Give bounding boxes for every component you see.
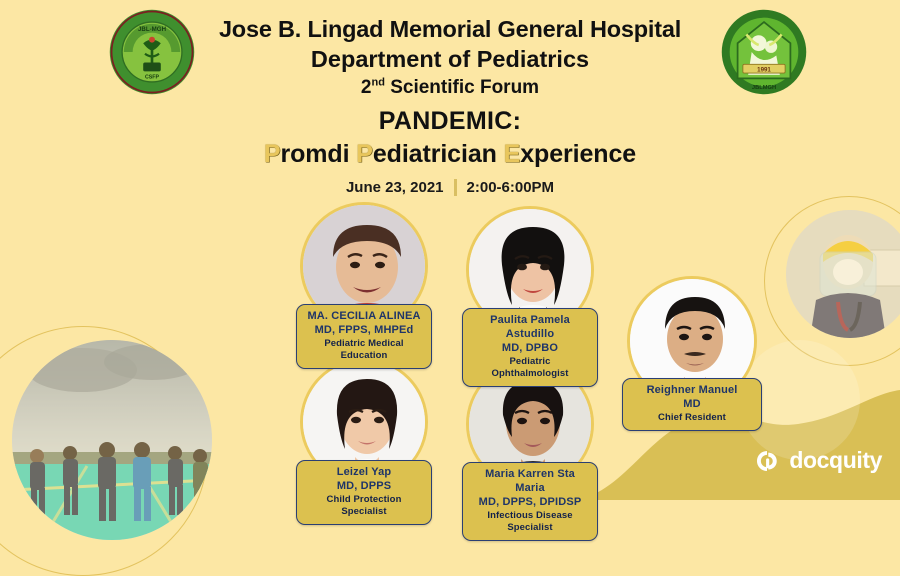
photo-overlay bbox=[12, 340, 212, 540]
speaker-namecard: MA. CECILIA ALINEA MD, FPPS, MHPEd Pedia… bbox=[296, 304, 432, 369]
speaker-namecard: Paulita Pamela Astudillo MD, DPBO Pediat… bbox=[462, 308, 598, 387]
speaker-card[interactable]: Leizel Yap MD, DPPS Child Protection Spe… bbox=[296, 358, 432, 525]
speaker-degrees: MD, DPBO bbox=[471, 342, 589, 356]
group-rooftop-photo bbox=[12, 340, 212, 540]
speaker-name: Paulita Pamela Astudillo bbox=[471, 314, 589, 342]
speaker-name: Leizel Yap bbox=[305, 466, 423, 480]
speaker-specialty: Infectious Disease Specialist bbox=[471, 510, 589, 535]
speaker-specialty: Chief Resident bbox=[631, 412, 753, 424]
title-block: Jose B. Lingad Memorial General Hospital… bbox=[0, 14, 900, 196]
hospital-name: Jose B. Lingad Memorial General Hospital bbox=[0, 14, 900, 44]
speaker-specialty: Pediatric Medical Education bbox=[305, 338, 423, 363]
department-name: Department of Pediatrics bbox=[0, 44, 900, 74]
event-time: 2:00-6:00PM bbox=[467, 179, 555, 196]
speaker-degrees: MD, DPPS bbox=[305, 480, 423, 494]
ppe-healthcare-worker-photo bbox=[786, 210, 900, 338]
tagline-initial-p1: P bbox=[264, 140, 281, 168]
tagline-word-experience: xperience bbox=[520, 140, 636, 168]
speaker-card[interactable]: Paulita Pamela Astudillo MD, DPBO Pediat… bbox=[462, 206, 598, 387]
tagline-word-promdi: romdi bbox=[280, 140, 356, 168]
poster-header: JBL-MGH CSFP 1991 JBLMGH Jose B. Lingad … bbox=[0, 0, 900, 195]
speaker-namecard: Reighner Manuel MD Chief Resident bbox=[622, 378, 762, 431]
speaker-degrees: MD bbox=[631, 398, 753, 412]
speaker-name: MA. CECILIA ALINEA bbox=[305, 310, 423, 324]
speaker-name: Reighner Manuel bbox=[631, 384, 753, 398]
datetime-divider bbox=[454, 179, 457, 196]
speaker-card[interactable]: MA. CECILIA ALINEA MD, FPPS, MHPEd Pedia… bbox=[296, 202, 432, 369]
forum-ordinal: nd bbox=[371, 77, 384, 89]
speaker-namecard: Maria Karren Sta Maria MD, DPPS, DPIDSP … bbox=[462, 462, 598, 541]
tagline-word-pediatrician: ediatrician bbox=[373, 140, 504, 168]
docquity-logo[interactable]: docquity bbox=[754, 447, 882, 474]
event-datetime: June 23, 2021 2:00-6:00PM bbox=[0, 179, 900, 196]
speaker-namecard: Leizel Yap MD, DPPS Child Protection Spe… bbox=[296, 460, 432, 525]
event-tagline: Promdi Pediatrician Experience bbox=[0, 139, 900, 170]
speaker-degrees: MD, FPPS, MHPEd bbox=[305, 324, 423, 338]
forum-label: Scientific Forum bbox=[385, 77, 539, 98]
photo-overlay bbox=[786, 210, 900, 338]
tagline-initial-e: E bbox=[504, 140, 521, 168]
forum-edition: 2nd Scientific Forum bbox=[0, 74, 900, 103]
docquity-mark-icon bbox=[754, 448, 780, 474]
docquity-wordmark: docquity bbox=[789, 447, 882, 474]
speaker-card[interactable]: Maria Karren Sta Maria MD, DPPS, DPIDSP … bbox=[462, 360, 598, 541]
event-theme: PANDEMIC: bbox=[0, 103, 900, 139]
tagline-initial-p2: P bbox=[356, 140, 373, 168]
forum-number: 2 bbox=[361, 77, 372, 98]
speaker-name: Maria Karren Sta Maria bbox=[471, 468, 589, 496]
speaker-specialty: Child Protection Specialist bbox=[305, 494, 423, 519]
speaker-card[interactable]: Reighner Manuel MD Chief Resident bbox=[622, 276, 762, 431]
event-date: June 23, 2021 bbox=[346, 179, 444, 196]
speaker-degrees: MD, DPPS, DPIDSP bbox=[471, 496, 589, 510]
speaker-specialty: Pediatric Ophthalmologist bbox=[471, 356, 589, 381]
